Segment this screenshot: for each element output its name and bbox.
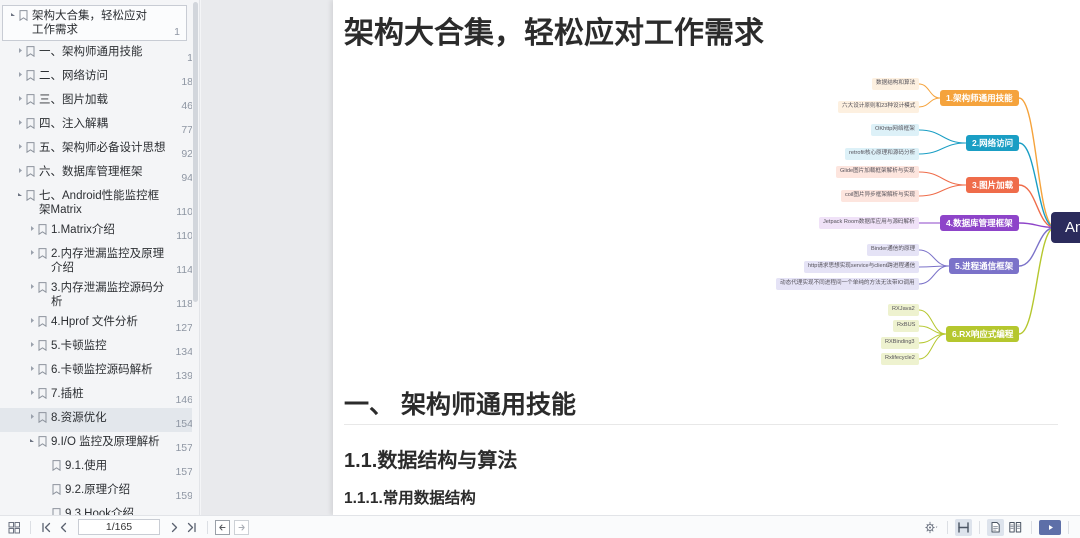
toolbar-divider-2 bbox=[207, 521, 208, 534]
mindmap-leaf-node: OKhttp网络框架 bbox=[871, 124, 919, 136]
mindmap-branch-node: 4.数据库管理框架 bbox=[940, 215, 1019, 232]
outline-item-page: 127 bbox=[175, 322, 193, 334]
page-number-value: 1/165 bbox=[106, 521, 132, 533]
bookmark-icon bbox=[38, 364, 51, 375]
single-page-button[interactable] bbox=[987, 519, 1004, 536]
outline-item-label: 二、网络访问 bbox=[39, 69, 199, 83]
mindmap-leaf-node: 数据结构和算法 bbox=[872, 78, 919, 90]
next-page-button[interactable] bbox=[166, 519, 183, 536]
outline-item[interactable]: 四、注入解耦77 bbox=[0, 114, 199, 138]
page-number-input[interactable]: 1/165 bbox=[78, 519, 160, 535]
chevron-right-icon[interactable] bbox=[14, 71, 26, 78]
outline-item[interactable]: 3.内存泄漏监控源码分析118 bbox=[0, 278, 199, 312]
mindmap-center-node: Android架构师 bbox=[1051, 212, 1080, 243]
outline-item[interactable]: 三、图片加载46 bbox=[0, 90, 199, 114]
outline-item-page: 139 bbox=[175, 370, 193, 382]
outline-item-label: 一、架构师通用技能 bbox=[39, 45, 199, 59]
forward-button[interactable] bbox=[234, 520, 249, 535]
outline-item[interactable]: 六、数据库管理框架94 bbox=[0, 162, 199, 186]
outline-item[interactable]: 9.3.Hook介绍159 bbox=[0, 504, 199, 515]
document-viewport[interactable]: 架构大合集，轻松应对工作需求 Android架构师1.架构师通用技能数据结构和算… bbox=[201, 0, 1080, 515]
chevron-down-icon[interactable] bbox=[26, 437, 38, 444]
prev-page-button[interactable] bbox=[55, 519, 72, 536]
mindmap-leaf-node: Jetpack Room数据库应用与源码解析 bbox=[819, 217, 919, 229]
document-page: 架构大合集，轻松应对工作需求 Android架构师1.架构师通用技能数据结构和算… bbox=[333, 0, 1080, 515]
outline-item-page: 1 bbox=[174, 26, 180, 38]
toolbar-divider-5 bbox=[1031, 521, 1032, 534]
section-heading-1: 一、 架构师通用技能 bbox=[344, 385, 576, 421]
mindmap-figure: Android架构师1.架构师通用技能数据结构和算法六大设计原则和23种设计模式… bbox=[333, 62, 1080, 372]
chevron-right-icon[interactable] bbox=[26, 249, 38, 256]
bookmark-icon bbox=[38, 412, 51, 423]
page-title: 架构大合集，轻松应对工作需求 bbox=[344, 8, 764, 52]
chevron-right-icon[interactable] bbox=[26, 341, 38, 348]
mindmap-leaf-node: 六大设计原则和23种设计模式 bbox=[838, 101, 919, 113]
bookmark-icon bbox=[38, 248, 51, 259]
outline-item[interactable]: 4.Hprof 文件分析127 bbox=[0, 312, 199, 336]
double-page-button[interactable] bbox=[1007, 519, 1024, 536]
mindmap-leaf-node: RXBinding3 bbox=[881, 337, 919, 349]
last-page-button[interactable] bbox=[183, 519, 200, 536]
mindmap-leaf-node: Rxlifecycle2 bbox=[881, 353, 919, 365]
section-heading-2: 1.1.数据结构与算法 bbox=[344, 444, 517, 473]
bookmark-icon bbox=[38, 388, 51, 399]
bookmark-icon bbox=[52, 508, 65, 515]
outline-item-page: 157 bbox=[175, 466, 193, 478]
chevron-right-icon[interactable] bbox=[14, 119, 26, 126]
section-heading-3: 1.1.1.常用数据结构 bbox=[344, 486, 476, 508]
outline-item[interactable]: 7.插桩146 bbox=[0, 384, 199, 408]
thumbnail-icon[interactable] bbox=[6, 519, 23, 536]
outline-item-page: 146 bbox=[175, 394, 193, 406]
mindmap-leaf-node: RXJava2 bbox=[888, 304, 919, 316]
outline-item-page: 134 bbox=[175, 346, 193, 358]
outline-item[interactable]: 架构大合集，轻松应对工作需求1 bbox=[2, 5, 187, 41]
app-root: 架构大合集，轻松应对工作需求1一、架构师通用技能1二、网络访问18三、图片加载4… bbox=[0, 0, 1080, 538]
presentation-button[interactable] bbox=[1039, 520, 1061, 535]
bookmark-icon bbox=[26, 70, 39, 81]
chevron-down-icon[interactable] bbox=[14, 191, 26, 198]
outline-item[interactable]: 2.内存泄漏监控及原理介绍114 bbox=[0, 244, 199, 278]
fit-width-button[interactable] bbox=[955, 519, 972, 536]
sidebar-scrollbar[interactable] bbox=[192, 0, 199, 515]
bottom-toolbar[interactable]: 1/165 bbox=[0, 515, 1080, 538]
bookmark-icon bbox=[26, 142, 39, 153]
chevron-down-icon[interactable] bbox=[7, 11, 19, 18]
bookmark-icon bbox=[38, 282, 51, 293]
outline-item[interactable]: 8.资源优化154 bbox=[0, 408, 199, 432]
sidebar-scrollbar-thumb[interactable] bbox=[193, 2, 198, 302]
bookmark-icon bbox=[26, 94, 39, 105]
outline-list: 架构大合集，轻松应对工作需求1一、架构师通用技能1二、网络访问18三、图片加载4… bbox=[0, 0, 199, 515]
chevron-right-icon[interactable] bbox=[26, 317, 38, 324]
bookmark-icon bbox=[38, 340, 51, 351]
view-mode-button[interactable] bbox=[923, 519, 940, 536]
bookmark-icon bbox=[38, 436, 51, 447]
outline-item-label: 四、注入解耦 bbox=[39, 117, 199, 131]
outline-item-label: 六、数据库管理框架 bbox=[39, 165, 199, 179]
chevron-right-icon[interactable] bbox=[14, 47, 26, 54]
outline-item[interactable]: 五、架构师必备设计思想92 bbox=[0, 138, 199, 162]
outline-item[interactable]: 9.1.使用157 bbox=[0, 456, 199, 480]
bookmark-icon bbox=[26, 166, 39, 177]
first-page-button[interactable] bbox=[38, 519, 55, 536]
chevron-right-icon[interactable] bbox=[14, 167, 26, 174]
outline-item-page: 159 bbox=[175, 490, 193, 502]
toolbar-divider-3 bbox=[947, 521, 948, 534]
outline-item[interactable]: 6.卡顿监控源码解析139 bbox=[0, 360, 199, 384]
chevron-right-icon[interactable] bbox=[26, 225, 38, 232]
outline-item-page: 110 bbox=[176, 206, 193, 218]
outline-sidebar[interactable]: 架构大合集，轻松应对工作需求1一、架构师通用技能1二、网络访问18三、图片加载4… bbox=[0, 0, 200, 515]
chevron-right-icon[interactable] bbox=[26, 283, 38, 290]
bookmark-icon bbox=[52, 460, 65, 471]
back-button[interactable] bbox=[215, 520, 230, 535]
mindmap-branch-node: 1.架构师通用技能 bbox=[940, 90, 1019, 107]
outline-item-page: 154 bbox=[175, 418, 193, 430]
mindmap-branch-node: 6.RX响应式编程 bbox=[946, 326, 1019, 343]
outline-item-label: 架构大合集，轻松应对工作需求 bbox=[32, 9, 186, 37]
outline-item[interactable]: 9.I/O 监控及原理解析157 bbox=[0, 432, 199, 456]
mindmap-leaf-node: retrofit核心原理和源码分析 bbox=[845, 148, 919, 160]
outline-item[interactable]: 七、Android性能监控框架Matrix110 bbox=[0, 186, 199, 220]
chevron-right-icon[interactable] bbox=[14, 143, 26, 150]
outline-item-label: 三、图片加载 bbox=[39, 93, 199, 107]
heading-divider bbox=[344, 424, 1058, 425]
outline-item-page: 157 bbox=[175, 442, 193, 454]
chevron-right-icon[interactable] bbox=[26, 389, 38, 396]
toolbar-divider bbox=[30, 521, 31, 534]
outline-item[interactable]: 二、网络访问18 bbox=[0, 66, 199, 90]
bookmark-icon bbox=[26, 118, 39, 129]
outline-item[interactable]: 5.卡顿监控134 bbox=[0, 336, 199, 360]
outline-item[interactable]: 一、架构师通用技能1 bbox=[0, 42, 199, 66]
mindmap-leaf-node: Glide图片加载框架解析与实现 bbox=[836, 166, 919, 178]
chevron-right-icon[interactable] bbox=[26, 365, 38, 372]
toolbar-divider-4 bbox=[979, 521, 980, 534]
mindmap-leaf-node: RxBUS bbox=[893, 320, 919, 332]
bookmark-icon bbox=[38, 224, 51, 235]
chevron-right-icon[interactable] bbox=[14, 95, 26, 102]
bookmark-icon bbox=[19, 10, 32, 21]
outline-item-page: 110 bbox=[176, 230, 193, 242]
bookmark-icon bbox=[52, 484, 65, 495]
mindmap-branch-node: 3.图片加载 bbox=[966, 177, 1019, 194]
outline-item-page: 114 bbox=[176, 264, 193, 276]
bookmark-icon bbox=[26, 46, 39, 57]
outline-item-label: 七、Android性能监控框架Matrix bbox=[39, 189, 199, 217]
toolbar-divider-6 bbox=[1068, 521, 1069, 534]
mindmap-leaf-node: Binder通信的原理 bbox=[867, 244, 919, 256]
outline-item[interactable]: 1.Matrix介绍110 bbox=[0, 220, 199, 244]
mindmap-branch-node: 2.网络访问 bbox=[966, 135, 1019, 152]
outline-item-page: 118 bbox=[176, 298, 193, 310]
bookmark-icon bbox=[38, 316, 51, 327]
outline-item[interactable]: 9.2.原理介绍159 bbox=[0, 480, 199, 504]
outline-item-label: 五、架构师必备设计思想 bbox=[39, 141, 199, 155]
mindmap-leaf-node: coil图片异步框架解析与实现 bbox=[841, 190, 919, 202]
bookmark-icon bbox=[26, 190, 39, 201]
mindmap-leaf-node: 动态代理实现不同进程间一个单纯的方法无法带IO调用 bbox=[776, 278, 919, 290]
mindmap-branch-node: 5.进程通信框架 bbox=[949, 258, 1019, 275]
mindmap-leaf-node: http请求思想实现service与client跨进程通信 bbox=[804, 261, 919, 273]
chevron-right-icon[interactable] bbox=[26, 413, 38, 420]
